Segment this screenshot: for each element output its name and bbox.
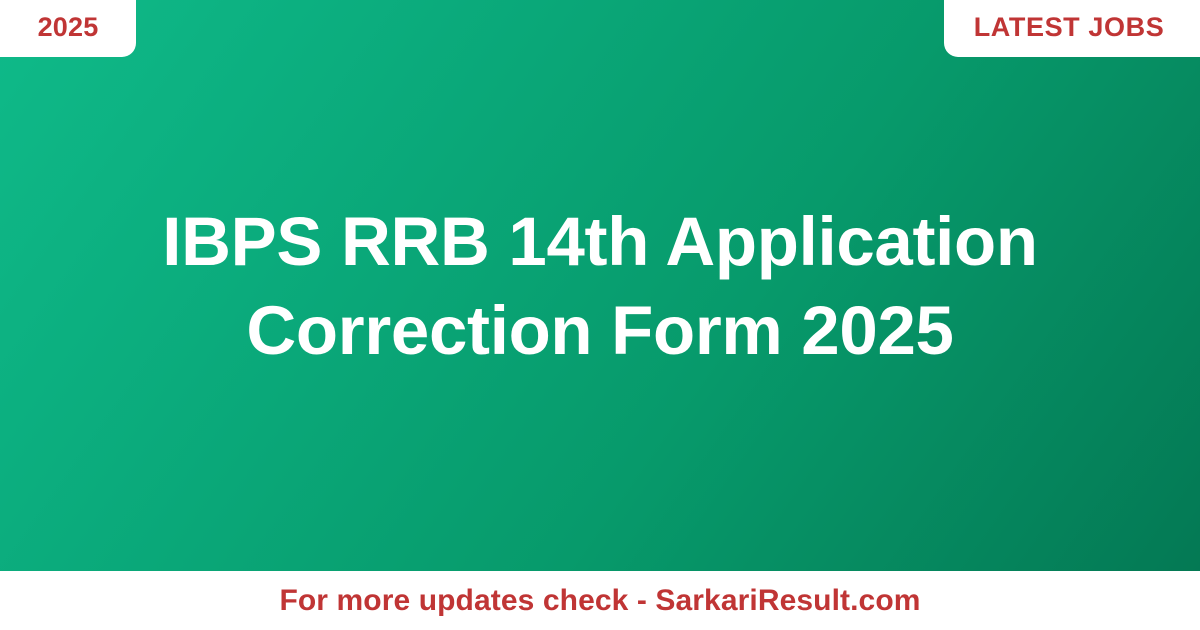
footer-message: For more updates check - SarkariResult.c…: [279, 586, 920, 616]
headline-container: IBPS RRB 14th Application Correction For…: [0, 0, 1200, 571]
page-title: IBPS RRB 14th Application Correction For…: [95, 197, 1105, 375]
footer-bar: For more updates check - SarkariResult.c…: [0, 571, 1200, 630]
promo-banner: 2025 LATEST JOBS IBPS RRB 14th Applicati…: [0, 0, 1200, 630]
hero-gradient-background: 2025 LATEST JOBS IBPS RRB 14th Applicati…: [0, 0, 1200, 571]
